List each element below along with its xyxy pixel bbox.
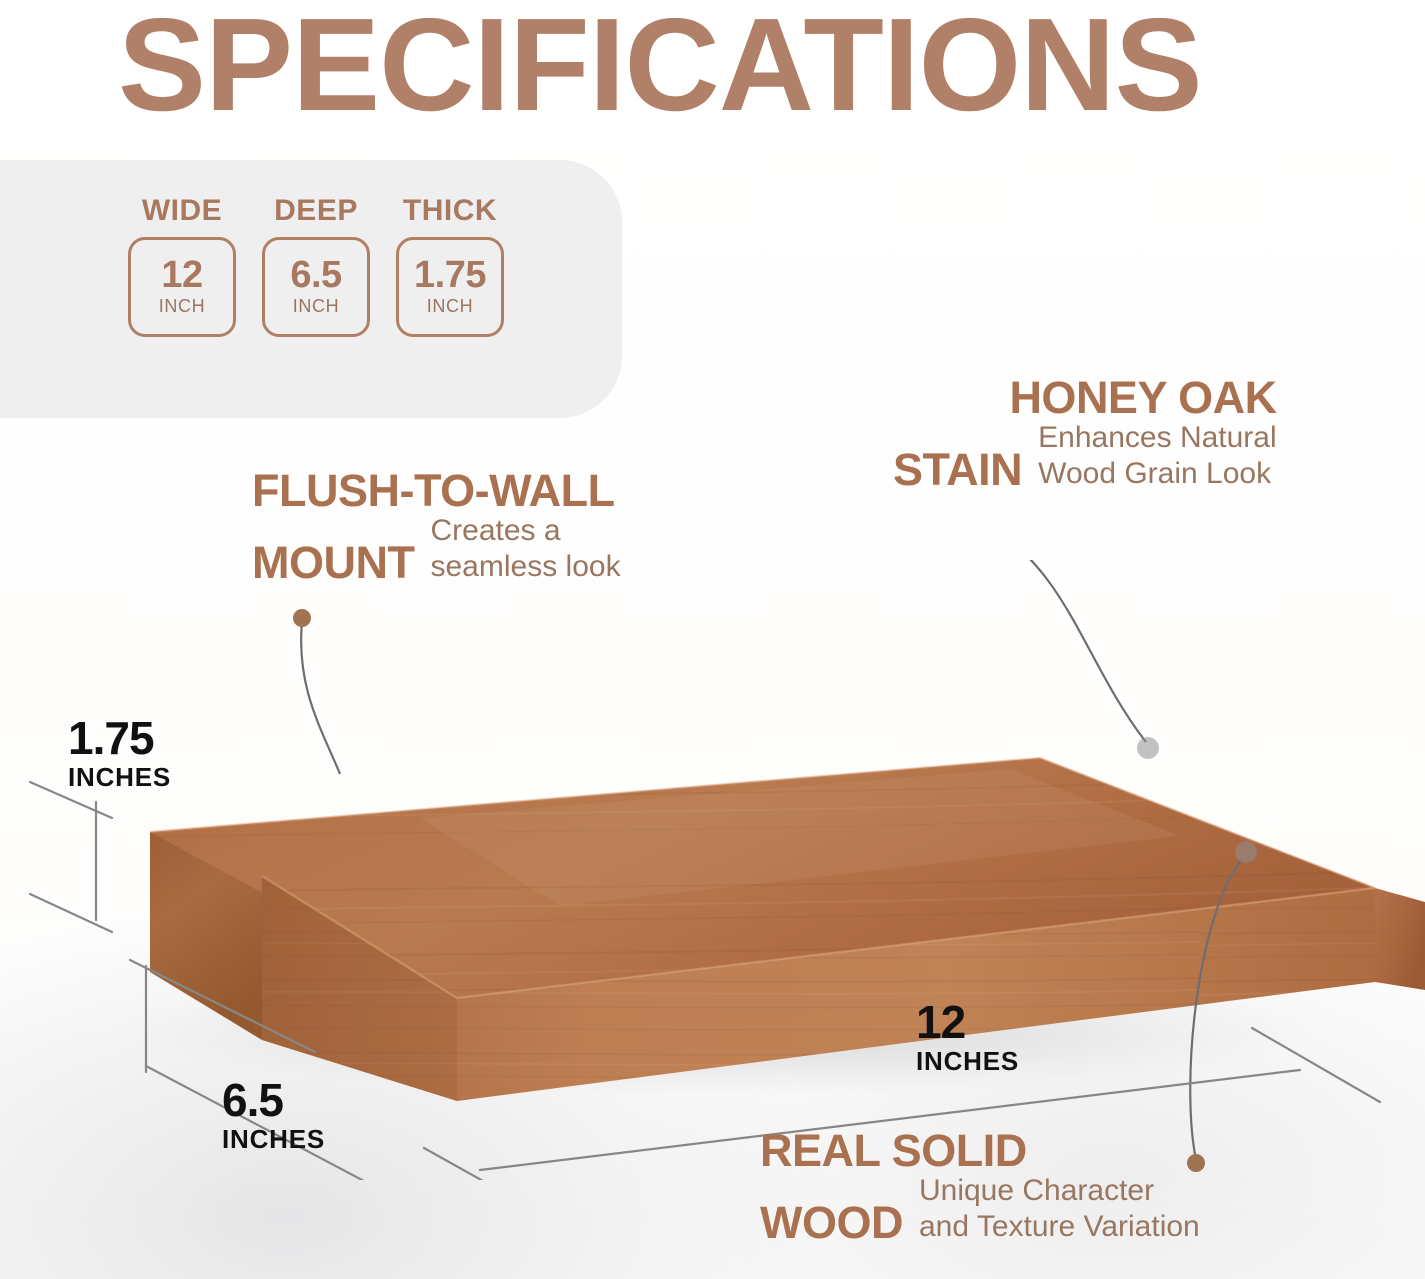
spec-box-wide: 12 INCH [128, 237, 236, 337]
leader-line-flush-mount [301, 622, 340, 774]
callout-sub-flush-line2: seamless look [430, 550, 620, 586]
callout-title-flush-line1: FLUSH-TO-WALL [252, 468, 621, 514]
spec-list: WIDE 12 INCH DEEP 6.5 INCH THICK 1.75 IN… [128, 194, 504, 337]
callout-sub-wood-line2: and Texture Variation [919, 1210, 1200, 1246]
spec-label-wide: WIDE [142, 194, 222, 228]
dimension-label-thickness: 1.75 INCHES [68, 716, 171, 793]
dimension-value-depth: 6.5 [222, 1078, 325, 1122]
spec-unit-thick: INCH [427, 296, 473, 317]
callout-title-wood-line2: WOOD [760, 1200, 903, 1246]
dimension-label-depth: 6.5 INCHES [222, 1078, 325, 1155]
dimension-value-thickness: 1.75 [68, 716, 171, 760]
callout-sub-flush-line1: Creates a [430, 514, 620, 550]
page-title: SPECIFICATIONS [118, 0, 1202, 145]
dimension-unit-depth: INCHES [222, 1124, 325, 1155]
spec-item-wide: WIDE 12 INCH [128, 194, 236, 337]
wood-shelf-illustration [0, 560, 1425, 1180]
leader-dot-flush-mount [293, 609, 311, 627]
spec-label-deep: DEEP [274, 194, 358, 228]
dimension-label-width: 12 INCHES [916, 1000, 1019, 1077]
callout-title-honey-line1: HONEY OAK [893, 375, 1277, 421]
callout-title-honey-line2: STAIN [893, 447, 1022, 493]
callout-flush-to-wall-mount: FLUSH-TO-WALL MOUNT Creates a seamless l… [252, 468, 621, 586]
spec-unit-deep: INCH [293, 296, 339, 317]
callout-honey-oak-stain: HONEY OAK STAIN Enhances Natural Wood Gr… [893, 375, 1277, 493]
spec-item-deep: DEEP 6.5 INCH [262, 194, 370, 337]
spec-value-thick: 1.75 [414, 257, 486, 293]
infographic-canvas: SPECIFICATIONS WIDE 12 INCH DEEP 6.5 INC… [0, 0, 1425, 1279]
specifications-card: WIDE 12 INCH DEEP 6.5 INCH THICK 1.75 IN… [0, 160, 622, 418]
spec-item-thick: THICK 1.75 INCH [396, 194, 504, 337]
dimension-unit-thickness: INCHES [68, 762, 171, 793]
spec-box-deep: 6.5 INCH [262, 237, 370, 337]
leader-line-honey-oak [1006, 560, 1146, 742]
callout-title-flush-line2: MOUNT [252, 540, 414, 586]
callout-title-wood-line1: REAL SOLID [760, 1128, 1200, 1174]
dim-thick-tick-bottom [30, 894, 112, 932]
callout-real-solid-wood: REAL SOLID WOOD Unique Character and Tex… [760, 1128, 1200, 1246]
spec-value-deep: 6.5 [290, 257, 341, 293]
dim-wide-tick-right [1252, 1028, 1380, 1102]
dimension-unit-width: INCHES [916, 1046, 1019, 1077]
callout-sub-wood-line1: Unique Character [919, 1174, 1200, 1210]
spec-unit-wide: INCH [159, 296, 205, 317]
spec-label-thick: THICK [403, 194, 497, 228]
spec-value-wide: 12 [161, 257, 202, 293]
callout-sub-honey-line1: Enhances Natural [1038, 421, 1276, 457]
spec-box-thick: 1.75 INCH [396, 237, 504, 337]
dimension-value-width: 12 [916, 1000, 1019, 1044]
dim-wide-tick-left [424, 1148, 560, 1180]
leader-dot-real-wood-edge [1235, 841, 1257, 863]
leader-dot-honey-oak-top [1137, 737, 1159, 759]
shelf-right-end-face [1375, 888, 1425, 990]
callout-sub-honey-line2: Wood Grain Look [1038, 457, 1276, 493]
